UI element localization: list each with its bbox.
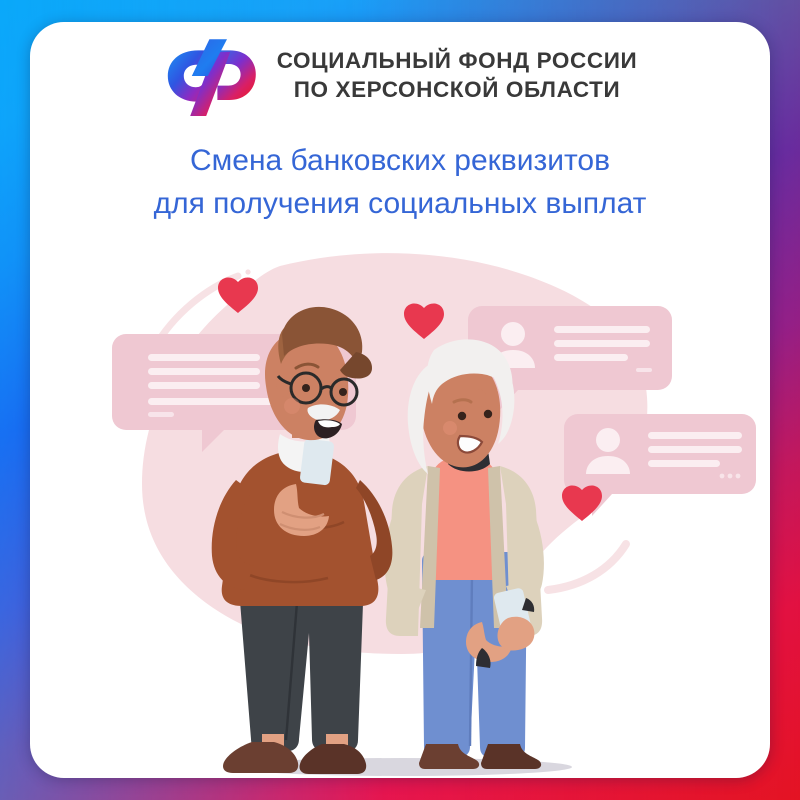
elderly-couple-illustration <box>30 222 770 778</box>
man-shoe-right <box>299 744 366 774</box>
poster: Социальный фонд России по Херсонской обл… <box>0 0 800 800</box>
page-title: Смена банковских реквизитов для получени… <box>30 140 770 225</box>
man-phone <box>299 438 334 485</box>
header: Социальный фонд России по Херсонской обл… <box>30 34 770 118</box>
woman-hand-right <box>497 617 534 651</box>
sfr-logo <box>163 34 259 118</box>
white-card: Социальный фонд России по Херсонской обл… <box>30 22 770 778</box>
illustration <box>30 222 770 778</box>
organization-name: Социальный фонд России по Херсонской обл… <box>277 47 637 105</box>
woman-shoe-right <box>481 744 541 769</box>
woman-shoe-left <box>419 744 479 769</box>
